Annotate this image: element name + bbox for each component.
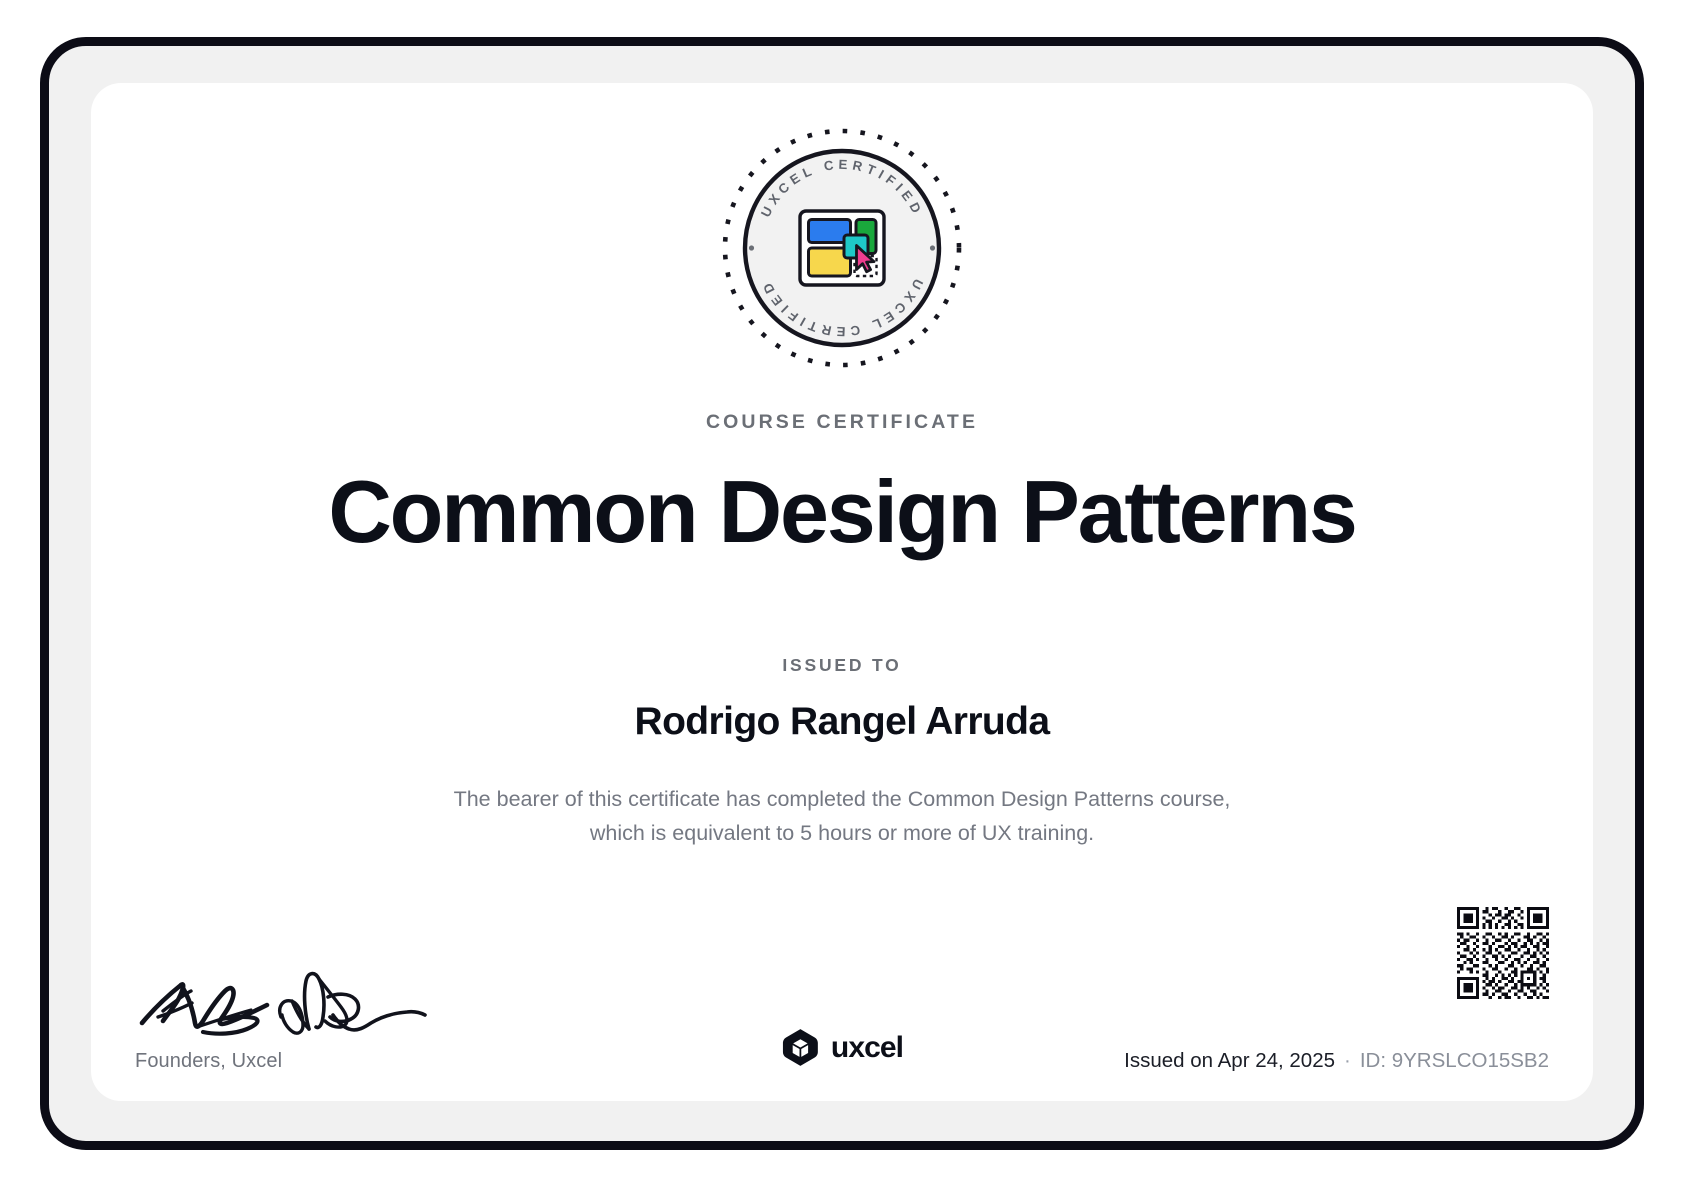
meta-line: Issued on Apr 24, 2025·ID: 9YRSLCO15SB2: [929, 1051, 1549, 1072]
founder-signature-one: [142, 984, 267, 1033]
uxcel-hexagon-logo: [781, 1028, 820, 1067]
certificate-footer: Founders, Uxcel uxcel: [135, 881, 1549, 1071]
certificate-page: UXCEL CERTIFIED UXCEL CERTIFIED: [0, 0, 1684, 1190]
founders-label: Founders, Uxcel: [135, 1051, 565, 1071]
issued-on-date: Issued on Apr 24, 2025: [1124, 1049, 1335, 1072]
seal-svg: UXCEL CERTIFIED UXCEL CERTIFIED: [717, 123, 967, 373]
description-line-1: The bearer of this certificate has compl…: [454, 787, 1154, 811]
verification-qr-code[interactable]: [1457, 907, 1549, 999]
certificate-frame: UXCEL CERTIFIED UXCEL CERTIFIED: [40, 37, 1644, 1150]
certificate-meta: Issued on Apr 24, 2025·ID: 9YRSLCO15SB2: [929, 1051, 1549, 1072]
issued-to-label: ISSUED TO: [782, 657, 901, 675]
certificate-id: ID: 9YRSLCO15SB2: [1360, 1049, 1549, 1072]
meta-separator: ·: [1335, 1049, 1360, 1072]
seal-text-dot-right: [930, 245, 935, 250]
founder-signatures: [137, 945, 427, 1037]
founder-signature-two: [280, 974, 425, 1034]
signature-block: Founders, Uxcel: [135, 945, 565, 1071]
uxcel-certified-seal: UXCEL CERTIFIED UXCEL CERTIFIED: [717, 123, 967, 373]
seal-text-dot-left: [749, 245, 754, 250]
recipient-name: Rodrigo Rangel Arruda: [635, 701, 1050, 744]
certificate-title: Common Design Patterns: [328, 467, 1355, 557]
certificate-description: The bearer of this certificate has compl…: [447, 782, 1237, 852]
eyebrow-course-certificate: COURSE CERTIFICATE: [706, 413, 978, 433]
uxcel-brand: uxcel: [781, 1028, 903, 1067]
uxcel-wordmark: uxcel: [831, 1033, 903, 1063]
layout-patterns-icon: [800, 211, 884, 285]
certificate-card: UXCEL CERTIFIED UXCEL CERTIFIED: [91, 83, 1593, 1101]
